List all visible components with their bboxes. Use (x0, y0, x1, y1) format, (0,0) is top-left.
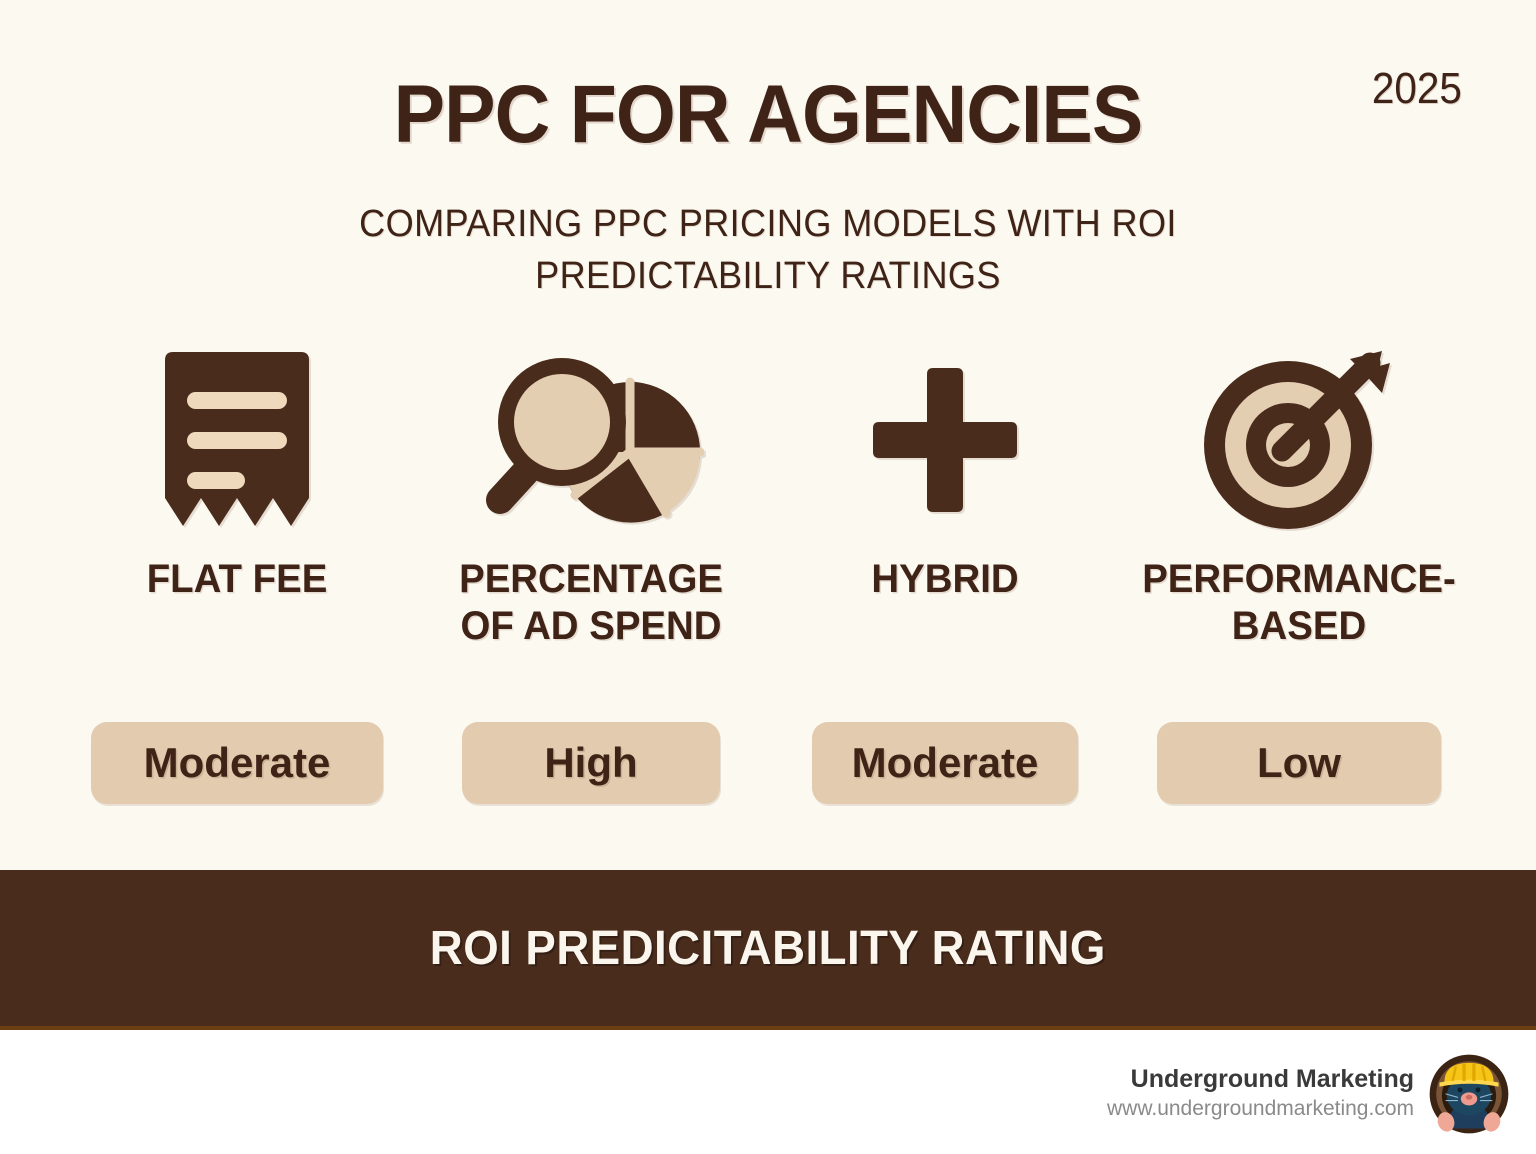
column-label-performance-based: PERFORMANCE- BASED (1129, 556, 1469, 650)
rating-banner: ROI PREDICITABILITY RATING (0, 870, 1536, 1030)
brand-name: Underground Marketing (1107, 1064, 1414, 1095)
plus-icon (768, 340, 1122, 540)
rating-banner-text: ROI PREDICITABILITY RATING (430, 921, 1106, 976)
mole-hardhat-logo (1428, 1053, 1510, 1135)
footer: Underground Marketing www.undergroundmar… (0, 1034, 1536, 1154)
column-label-hybrid: HYBRID (775, 556, 1115, 603)
pie-magnifier-icon (414, 340, 768, 540)
page-title: PPC FOR AGENCIES (46, 74, 1490, 156)
status-badge-performance-based[interactable]: Low (1157, 722, 1441, 804)
status-badge-hybrid[interactable]: Moderate (812, 722, 1078, 804)
status-badge-flat-fee[interactable]: Moderate (91, 722, 383, 804)
target-arrow-icon (1122, 340, 1476, 540)
column-label-flat-fee: FLAT FEE (67, 556, 407, 603)
footer-text: Underground Marketing www.undergroundmar… (1107, 1064, 1414, 1124)
brand-url: www.undergroundmarketing.com (1107, 1095, 1414, 1123)
receipt-icon (60, 340, 414, 540)
column-label-percentage-ad-spend: PERCENTAGE OF AD SPEND (421, 556, 761, 650)
page-subtitle: COMPARING PPC PRICING MODELS WITH ROI PR… (312, 198, 1224, 303)
rating-badge-row: Moderate High Moderate Low (0, 722, 1536, 804)
infographic-canvas: 2025 PPC FOR AGENCIES COMPARING PPC PRIC… (0, 0, 1536, 1030)
status-badge-percentage-ad-spend[interactable]: High (462, 722, 720, 804)
